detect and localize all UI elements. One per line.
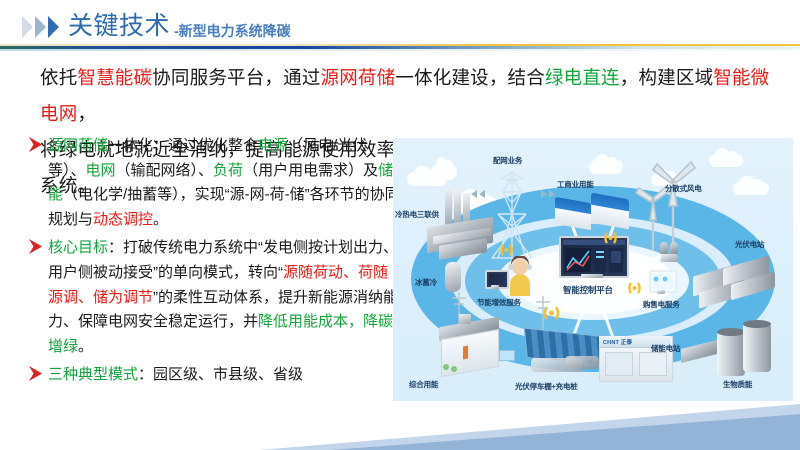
text-run: 三种典型模式 bbox=[48, 366, 138, 383]
node-label-chp: 冷热电三联供 bbox=[395, 210, 439, 219]
header-rule-light bbox=[0, 49, 800, 51]
red-arrow-bullet-icon bbox=[28, 238, 44, 255]
text-run: 源网荷储 bbox=[321, 67, 396, 88]
list-item: 三种典型模式：园区级、市县级、省级 bbox=[28, 363, 400, 388]
list-item-text: 核心目标：打破传统电力系统中“发电侧按计划出力、用户侧被动接受”的单向模式，转向… bbox=[48, 236, 400, 359]
node-biomass bbox=[681, 318, 773, 384]
text-run: 绿电直连 bbox=[545, 67, 620, 88]
node-pv-station bbox=[689, 256, 781, 310]
building-brand-label: CHNT 正泰 bbox=[603, 338, 632, 346]
text-run: 核心目标 bbox=[48, 239, 108, 256]
text-run: （用户用电需求）及 bbox=[243, 162, 378, 179]
cloud-icon bbox=[589, 160, 623, 174]
triple-chevron-right-icon bbox=[22, 16, 68, 38]
smart-microgrid-ecosystem-diagram: 冷热电三联供 配网业务 bbox=[393, 138, 793, 401]
node-label-biomass: 生物质能 bbox=[723, 380, 752, 389]
page-subtitle: -新型电力系统降碳 bbox=[174, 22, 291, 40]
text-run: ， bbox=[77, 103, 96, 124]
text-run: 依托 bbox=[40, 67, 77, 88]
node-pv-carport bbox=[521, 330, 611, 380]
text-run: 动态调控 bbox=[93, 211, 153, 228]
text-run: 协同服务平台，通过 bbox=[152, 67, 320, 88]
text-run: 一体化建设，结合 bbox=[395, 67, 545, 88]
red-arrow-bullet-icon bbox=[28, 136, 44, 153]
node-label-integrated-energy: 综合用能 bbox=[409, 380, 438, 389]
slide-header: 关键技术 -新型电力系统降碳 bbox=[0, 0, 800, 52]
text-run: ，构建区域 bbox=[620, 67, 714, 88]
node-label-energy-saving: 节能增效服务 bbox=[477, 298, 521, 307]
node-integrated-energy bbox=[431, 314, 517, 380]
signal-waves-icon bbox=[601, 230, 621, 251]
node-label-pv-station: 光伏电站 bbox=[735, 240, 764, 249]
node-label-wind: 分散式风电 bbox=[665, 184, 702, 193]
node-ci-energy bbox=[553, 196, 633, 240]
red-arrow-bullet-icon bbox=[28, 365, 44, 382]
text-run: 电源 bbox=[258, 137, 288, 154]
list-item: 核心目标：打破传统电力系统中“发电侧按计划出力、用户侧被动接受”的单向模式，转向… bbox=[28, 236, 400, 359]
signal-waves-icon bbox=[497, 242, 517, 263]
bottom-decorative-wedge bbox=[0, 390, 800, 450]
cloud-icon bbox=[709, 154, 743, 167]
text-run: 源网荷储 bbox=[48, 137, 108, 154]
node-label-ice-storage: 冰蓄冷 bbox=[415, 278, 437, 287]
intro-line-1: 依托智慧能碳协同服务平台，通过源网荷储一体化建设，结合绿电直连，构建区域智能微电… bbox=[40, 60, 770, 132]
text-run: 电网 bbox=[86, 162, 116, 179]
text-run: 。 bbox=[153, 211, 168, 228]
signal-arrows-icon bbox=[471, 186, 487, 204]
node-storage-station: CHNT 正泰 bbox=[599, 328, 675, 382]
text-run: 负荷 bbox=[213, 162, 243, 179]
text-run: 。 bbox=[78, 338, 93, 355]
signal-waves-icon bbox=[625, 280, 645, 301]
list-item-text: 源网荷储一体化：通过优化整合电源（风电/光伏等）、电网（输配网络）、负荷（用户用… bbox=[48, 134, 400, 232]
node-label-storage-station: 储能电站 bbox=[651, 344, 680, 353]
text-run: ：园区级、市县级、省级 bbox=[138, 366, 303, 383]
slide-root: 关键技术 -新型电力系统降碳 依托智慧能碳协同服务平台，通过源网荷储一体化建设，… bbox=[0, 0, 800, 450]
list-item-text: 三种典型模式：园区级、市县级、省级 bbox=[48, 363, 400, 388]
cloud-icon bbox=[431, 164, 457, 180]
bullet-list: 源网荷储一体化：通过优化整合电源（风电/光伏等）、电网（输配网络）、负荷（用户用… bbox=[28, 134, 400, 392]
node-label-power-trade: 购售电服务 bbox=[643, 300, 680, 309]
node-label-control-platform: 智能控制平台 bbox=[563, 286, 613, 295]
cloud-icon bbox=[733, 182, 769, 195]
node-power-trade bbox=[649, 266, 679, 300]
text-run: （输配网络）、 bbox=[116, 162, 214, 179]
transformer-icon bbox=[659, 238, 681, 264]
page-title: 关键技术 bbox=[68, 11, 170, 41]
node-label-grid-biz: 配网业务 bbox=[493, 156, 522, 165]
text-run: 一体化：通过优化整合 bbox=[108, 137, 258, 154]
text-run: 智慧能碳 bbox=[77, 67, 152, 88]
node-label-ci-energy: 工商业用能 bbox=[557, 180, 594, 189]
list-item: 源网荷储一体化：通过优化整合电源（风电/光伏等）、电网（输配网络）、负荷（用户用… bbox=[28, 134, 400, 232]
